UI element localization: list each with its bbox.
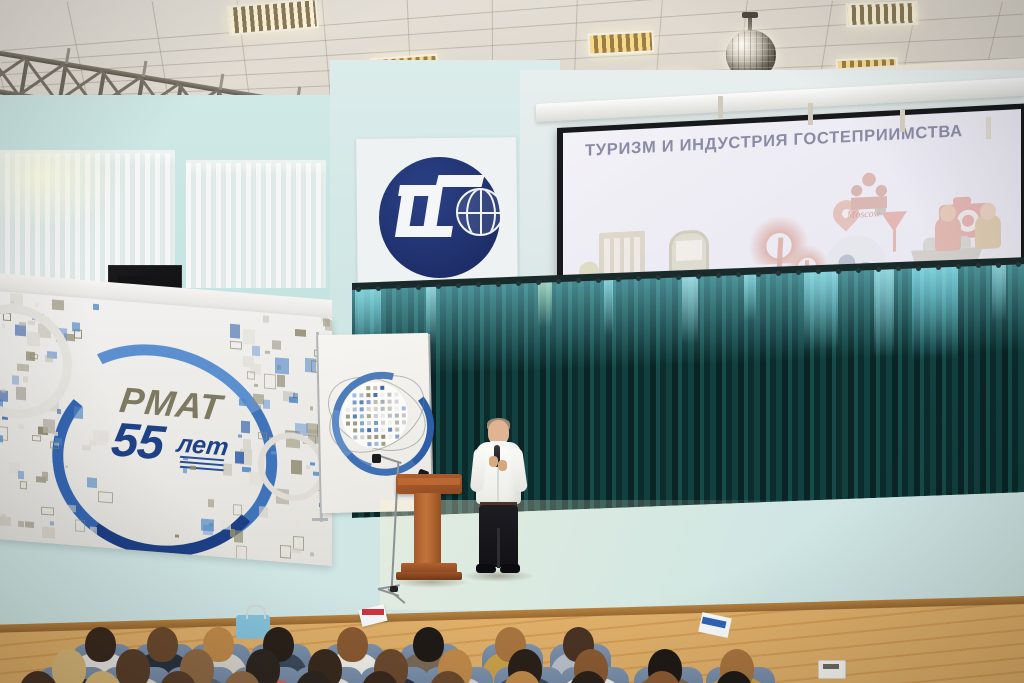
curtain-gap-light-4 — [604, 276, 613, 334]
banner-confetti-square — [87, 478, 97, 489]
presenter-right-hand — [498, 460, 507, 471]
curtain-gap-light-5 — [682, 273, 698, 344]
presenter-right-shoe — [500, 564, 520, 573]
globe-pixel — [367, 442, 371, 446]
ceiling-light-4 — [587, 30, 654, 55]
curtain-gap-light-7 — [804, 267, 838, 350]
globe-pixel — [353, 407, 357, 411]
lectern-column — [414, 493, 441, 565]
banner-confetti-square — [263, 399, 270, 408]
window-light-glow — [0, 150, 120, 230]
emblem-globe-icon — [456, 188, 504, 236]
banner-confetti-square — [254, 384, 258, 387]
curtain-hook — [616, 277, 621, 282]
banner-confetti-square — [239, 399, 246, 406]
audience-member-head — [116, 649, 150, 683]
globe-pixel — [402, 420, 406, 424]
soffit-hanger-1 — [718, 96, 723, 118]
conference-hall-photo: ТУРИЗМ И ИНДУСТРИЯ ГОСТЕПРИИМСТВА HOTEL — [0, 0, 1024, 683]
globe-pixel — [367, 400, 371, 404]
curtain-gap-light-10 — [992, 261, 1006, 322]
banner-confetti-square — [272, 340, 280, 350]
presenter-left-shoe — [476, 564, 496, 573]
banner-confetti-square — [52, 300, 64, 311]
globe-pixel — [360, 407, 364, 411]
curtain-gap-light-9 — [912, 263, 958, 361]
cocktail-stem — [893, 230, 896, 252]
tram-window — [676, 240, 702, 261]
globe-pixel — [380, 386, 384, 390]
lectern-top-edge — [398, 478, 460, 485]
banner-confetti-square — [35, 302, 39, 307]
globe-pixel — [353, 421, 357, 425]
banner-confetti-square — [258, 432, 267, 440]
globe-pixel — [381, 421, 385, 425]
banner-confetti-square — [238, 434, 242, 438]
globe-pixel — [374, 435, 378, 439]
globe-pixel — [388, 435, 392, 439]
banner-confetti-square — [74, 407, 83, 420]
globe-pixel — [388, 421, 392, 425]
banner-confetti-square — [93, 303, 99, 310]
presenter-leg-split — [497, 528, 500, 568]
globe-pixel — [387, 393, 391, 397]
globe-pixel — [381, 407, 385, 411]
globe-pixel — [346, 408, 350, 412]
banner-confetti-square — [99, 432, 109, 441]
banner-confetti-square — [255, 405, 262, 410]
wall-socket — [818, 660, 846, 679]
curtain-hook — [776, 271, 781, 276]
globe-pixel — [360, 414, 364, 418]
banner-confetti-square — [18, 470, 24, 479]
globe-pixel — [388, 407, 392, 411]
banner-confetti-square — [277, 375, 285, 387]
banner-confetti-square — [72, 322, 80, 332]
globe-pixel — [380, 393, 384, 397]
leaflet-band — [362, 609, 384, 615]
banner-confetti-square — [264, 373, 276, 389]
banner-confetti-square — [42, 472, 49, 482]
globe-pixel — [353, 435, 357, 439]
globe-pixel — [395, 400, 399, 404]
banner-confetti-square — [235, 451, 244, 463]
anniversary-number: 55 — [108, 413, 167, 472]
globe-pixel — [381, 428, 385, 432]
globe-pixel — [374, 428, 378, 432]
banner-confetti-square — [32, 434, 42, 441]
globe-pixel — [402, 406, 406, 410]
ceiling-light-6 — [846, 1, 919, 27]
soffit-hanger-2 — [808, 103, 813, 125]
globe-pixel — [360, 400, 364, 404]
banner-confetti-square — [57, 408, 61, 414]
audience-rows — [0, 575, 760, 683]
curtain-hook — [856, 268, 861, 273]
globe-pixel — [367, 435, 371, 439]
globe-pixel — [394, 393, 398, 397]
globe-pixel — [395, 420, 399, 424]
globe-pixel — [395, 407, 399, 411]
globe-pixel — [353, 414, 357, 418]
globe-pixel — [388, 428, 392, 432]
banner-confetti-square — [0, 426, 8, 441]
audience-member-head — [85, 627, 116, 662]
globe-pixel — [353, 400, 357, 404]
curtain-hook — [496, 282, 501, 287]
globe-pixel — [367, 428, 371, 432]
globe-pixel — [374, 407, 378, 411]
globe-pixel — [353, 428, 357, 432]
banner-confetti-square — [230, 340, 242, 349]
curtain-hook — [596, 278, 601, 283]
banner-confetti-square — [295, 329, 306, 337]
globe-pixel — [367, 421, 371, 425]
banner-confetti-square — [82, 445, 91, 451]
globe-pixel — [373, 393, 377, 397]
globe-pixel — [374, 421, 378, 425]
curtain-hook — [1016, 262, 1021, 267]
globe-pixel — [367, 414, 371, 418]
banner-confetti-square — [230, 324, 240, 339]
globe-pixel — [352, 393, 356, 397]
presenter-left-hand — [489, 456, 498, 467]
curtain-hook — [756, 272, 761, 277]
globe-pixel — [381, 400, 385, 404]
globe-pixel — [373, 386, 377, 390]
banner-confetti-square — [183, 457, 188, 460]
banner-confetti-square — [241, 421, 249, 433]
globe-pixel — [381, 414, 385, 418]
globe-pixel — [374, 400, 378, 404]
curtain-hook — [516, 281, 521, 286]
camera-flash — [953, 197, 971, 206]
banner-confetti-square — [275, 357, 288, 374]
banner-confetti-square — [310, 406, 313, 410]
curtain-hook — [916, 266, 921, 271]
curtain-gap-light-3 — [538, 278, 552, 327]
curtain-hook — [676, 275, 681, 280]
curtain-hook — [356, 287, 361, 292]
banner-confetti-square — [325, 320, 332, 331]
audience-member-head — [147, 627, 178, 662]
banner-confetti-square — [263, 315, 269, 323]
wall-socket-slot — [823, 664, 839, 669]
banner-confetti-square — [243, 355, 253, 367]
banner-confetti-square — [247, 371, 255, 380]
banner-confetti-square — [18, 424, 25, 429]
banner-confetti-square — [190, 466, 196, 470]
globe-pixel — [395, 434, 399, 438]
disco-ball-mount — [742, 12, 758, 18]
audience-member-head — [413, 627, 444, 662]
globe-pixel — [367, 407, 371, 411]
globe-pixel — [346, 422, 350, 426]
globe-pixel — [388, 414, 392, 418]
globe-pixel — [346, 415, 350, 419]
globe-pixel — [366, 393, 370, 397]
curtain-hook — [416, 285, 421, 290]
banner-confetti-square — [54, 442, 58, 445]
curtain-hook — [436, 284, 441, 289]
wooden-lectern — [396, 474, 462, 584]
audience-member-head — [337, 627, 368, 662]
globe-pixel — [381, 435, 385, 439]
banner-confetti-square — [265, 350, 271, 354]
banner-confetti-square — [43, 419, 56, 434]
banner-confetti-square — [208, 496, 211, 498]
curtain-hook — [536, 280, 541, 285]
globe-pixel — [374, 414, 378, 418]
banner-confetti-square — [253, 393, 263, 404]
globe-pixel — [402, 413, 406, 417]
vertical-blinds-right — [186, 160, 326, 288]
curtain-hook — [836, 269, 841, 274]
banner-confetti-square — [223, 464, 232, 477]
globe-pixel — [360, 421, 364, 425]
leaflet — [358, 604, 387, 627]
globe-pixel — [360, 428, 364, 432]
curtain-hook — [936, 265, 941, 270]
globe-pixel — [395, 427, 399, 431]
ceiling-light-1 — [227, 0, 319, 36]
soffit-hanger-3 — [900, 110, 905, 132]
banner-confetti-square — [243, 329, 255, 345]
banner-confetti-square — [20, 480, 28, 489]
tote-bag-handle — [246, 605, 266, 619]
mic-clip-icon — [372, 454, 381, 463]
curtain-gap-light-6 — [744, 270, 756, 320]
banner-confetti-square — [252, 345, 260, 356]
banner-confetti-square — [65, 466, 68, 468]
globe-pixel — [388, 400, 392, 404]
banner-confetti-square — [293, 392, 298, 398]
curtain-hook — [996, 263, 1001, 268]
globe-pixel — [360, 435, 364, 439]
globe-pixel — [395, 413, 399, 417]
globe-pixel — [359, 393, 363, 397]
curtain-gap-light-8 — [874, 265, 894, 358]
presenter-person — [470, 420, 526, 580]
soffit-hanger-4 — [986, 117, 991, 139]
banner-confetti-square — [183, 468, 188, 473]
globe-pixel — [366, 386, 370, 390]
audience-member-head — [52, 649, 86, 683]
curtain-hook — [696, 274, 701, 279]
